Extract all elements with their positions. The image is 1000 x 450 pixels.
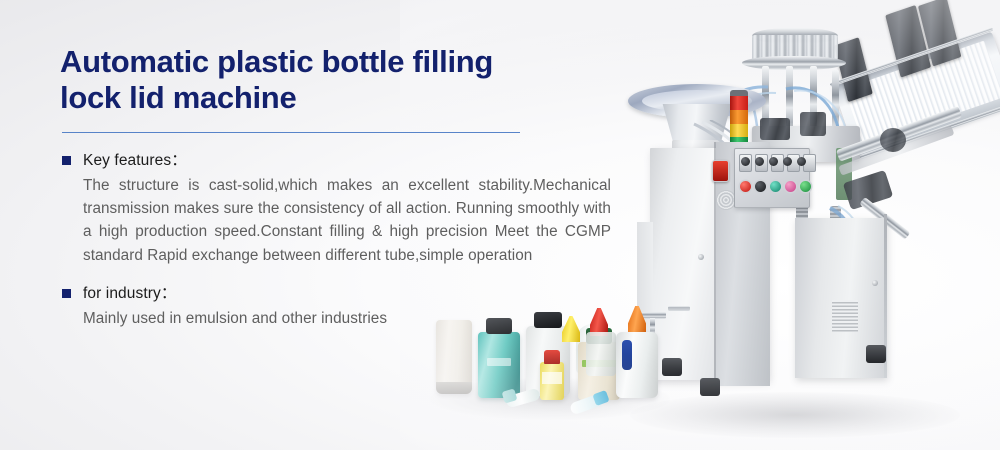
leveling-bracket [640,312,666,319]
bowl-pedestal [672,140,722,158]
feeder-chute [690,120,780,190]
right-lower-cabinet [795,218,887,378]
bottle-teal-glass [478,332,520,398]
loader-ribbed-bed [844,41,1000,146]
red-nozzle-body [586,332,616,376]
lower-tubing [820,200,930,310]
panel-knob-4 [783,157,792,166]
spring-shaft-left [796,200,808,274]
operator-control-panel [734,148,810,208]
conveyor-gearbox [880,128,906,152]
caster-front-left [662,358,682,376]
filling-column-1 [762,66,769,134]
loader-panel-mid [885,5,931,78]
panel-knob-3 [769,157,778,166]
pneumatic-tubing [690,55,890,165]
white-squeeze-blue-stripe [622,340,632,370]
tube-lying-white [505,388,541,409]
bottle-green-cap-cream [578,342,620,400]
panel-button-pink [785,181,796,192]
small-bottle-label [542,372,562,384]
tower-light-red [730,96,748,110]
bottles-floor-shadow [430,378,670,420]
panel-switch-3 [771,154,784,172]
panel-knob-5 [797,157,806,166]
tube-cap-band [436,382,472,394]
signal-tower-light [729,90,749,162]
panel-switch-5 [803,154,816,172]
machine-floor-shadow [630,392,960,438]
loader-rail-bottom [859,101,1000,160]
bullet-square-icon [62,156,71,165]
rotary-turret-body [752,35,838,61]
small-bottle-red-cap [544,350,560,364]
page-title: Automatic plastic bottle filling lock li… [60,44,620,116]
feature-section-for-industry: for industry： Mainly used in emulsion an… [60,283,620,330]
bowl-rim [628,84,766,118]
bullet-row: Key features： [60,150,620,171]
panel-button-green [800,181,811,192]
section-body: Mainly used in emulsion and other indust… [83,307,611,330]
filling-head-motor [760,118,790,140]
title-line-2: lock lid machine [60,80,296,115]
cabinet-lower-step [637,222,653,352]
filling-column-4 [832,70,839,130]
teal-bottle-label [487,358,511,366]
tower-cap [730,90,748,96]
spring-shaft-right [830,206,841,276]
panel-button-teal [770,181,781,192]
rotary-turret-plate [742,56,846,70]
conveyor-arm-under [838,125,954,175]
tube-lying-white-cap [502,388,518,403]
panel-switch-1 [739,154,752,172]
title-line-1: Automatic plastic bottle filling [60,44,493,79]
panel-knob-1 [741,157,750,166]
filling-head-block [752,126,860,162]
filling-column-3 [810,66,817,132]
bowl-cone [658,104,736,144]
tower-light-orange [730,110,748,124]
feature-section-key-features: Key features： The structure is cast-soli… [60,150,620,267]
cabinet-fan-vent [716,190,736,210]
conveyor-arm [836,106,962,162]
loader-rail-top [830,27,994,87]
inclined-tube-loader [799,0,1000,185]
ventilation-grille [832,300,858,332]
emergency-stop-button [712,160,729,182]
tower-light-yellow [730,124,748,137]
bottle-small-yellow [540,362,564,400]
tube-lying-blue [569,393,605,416]
right-cabinet-edge [884,214,887,378]
leveling-bracket-stem [650,318,655,334]
tower-light-green [730,137,748,151]
rotary-turret-cap [752,28,838,44]
panel-button-black [755,181,766,192]
tube-lying-blue-cap [592,390,609,406]
section-label: Key features： [83,150,187,171]
panel-switch-4 [787,154,800,172]
tower-base [732,151,746,162]
bottle-white-squeeze [616,332,658,398]
panel-knob-2 [755,157,764,166]
right-cabinet-lock [872,280,878,286]
bowl-inner [642,90,752,112]
stainless-steel-cabinet [650,148,768,380]
sealing-jaw [843,170,893,210]
cabinet-lock [698,254,704,260]
bottle-orange-nozzle [628,306,646,336]
bottle-frosted-1 [526,326,570,396]
cabinet-door-seam [714,142,716,386]
panel-switch-2 [755,154,768,172]
bullet-square-icon [62,289,71,298]
sealing-jaw-arm [859,197,910,240]
bottle-frosted-round [576,324,608,374]
loader-panel-right [918,0,961,67]
cream-bottle-label [582,360,616,367]
filling-head-motor-2 [800,112,826,136]
caster-front-mid [700,378,720,396]
loader-panel-left [834,37,873,102]
rotary-bowl-feeder [628,84,770,160]
filling-column-2 [786,66,793,138]
product-banner: Automatic plastic bottle filling lock li… [0,0,1000,450]
small-chrome-stand [668,306,690,311]
title-divider [62,132,520,133]
loader-tray [833,32,1000,159]
bullet-row: for industry： [60,283,620,304]
panel-button-red [740,181,751,192]
section-label: for industry： [83,283,176,304]
bottle-cream-tube [436,320,472,394]
text-column: Automatic plastic bottle filling lock li… [60,44,620,330]
cabinet-side-face [716,142,770,386]
section-body: The structure is cast-solid,which makes … [83,174,611,267]
control-board [836,148,852,200]
caster-right [866,345,886,363]
green-cap [586,328,612,344]
